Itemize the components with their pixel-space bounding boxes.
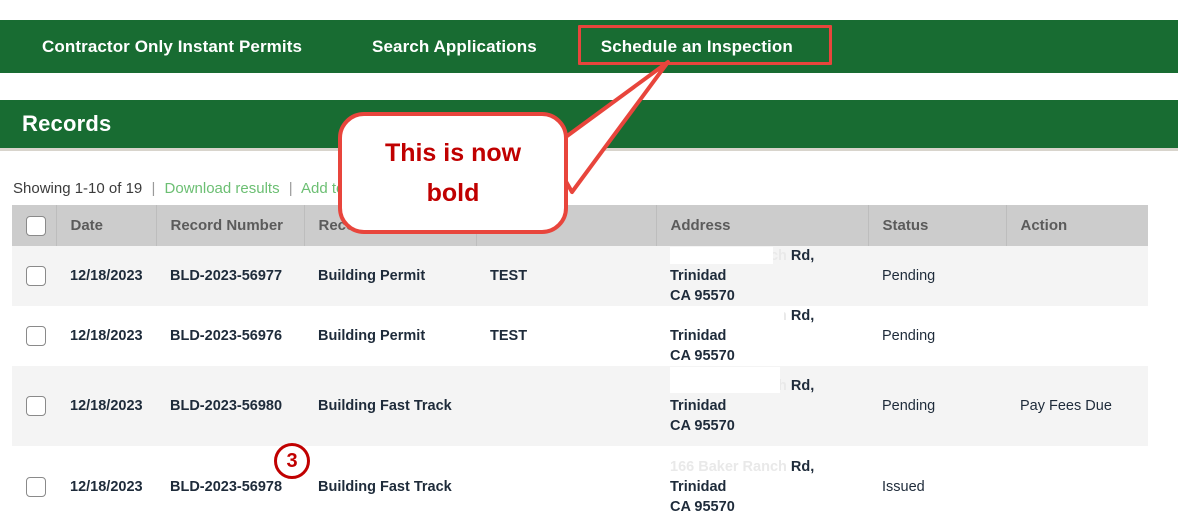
address-line-2: CA 95570 bbox=[670, 499, 735, 515]
row-checkbox[interactable] bbox=[26, 266, 46, 286]
row-select-cell[interactable] bbox=[12, 246, 56, 306]
row-checkbox[interactable] bbox=[26, 477, 46, 497]
cell-status: Pending bbox=[868, 366, 1006, 446]
top-navigation-bar: Contractor Only Instant Permits Search A… bbox=[0, 20, 1178, 73]
row-select-cell[interactable] bbox=[12, 306, 56, 366]
table-header-row: Date Record Number Reco ne Address Statu… bbox=[12, 205, 1148, 246]
address-redaction-block bbox=[670, 367, 780, 393]
column-header-date[interactable]: Date bbox=[56, 205, 156, 246]
records-table: Date Record Number Reco ne Address Statu… bbox=[12, 205, 1148, 526]
address-line-1: 166 Baker Ranch Rd, Trinidad bbox=[670, 306, 868, 346]
cell-record-number[interactable]: BLD-2023-56980 bbox=[156, 366, 304, 446]
row-checkbox[interactable] bbox=[26, 396, 46, 416]
address-redaction-block bbox=[670, 307, 784, 324]
column-header-record-number[interactable]: Record Number bbox=[156, 205, 304, 246]
cell-record-type: Building Fast Track bbox=[304, 366, 476, 446]
cell-date: 12/18/2023 bbox=[56, 306, 156, 366]
column-header-status[interactable]: Status bbox=[868, 205, 1006, 246]
records-section-header: Records bbox=[0, 100, 1178, 148]
address-line-2: CA 95570 bbox=[670, 348, 735, 364]
records-header-underline bbox=[0, 148, 1178, 151]
cell-action[interactable] bbox=[1006, 446, 1148, 526]
nav-item-schedule-an-inspection[interactable]: Schedule an Inspection bbox=[597, 31, 797, 63]
address-line-1: 166 Baker Ranch Rd, Trinidad bbox=[670, 457, 868, 497]
cell-name: TEST bbox=[476, 306, 656, 366]
cell-address: 166 Baker Ranch Rd, Trinidad CA 95570 bbox=[656, 366, 868, 446]
cell-record-type: Building Fast Track bbox=[304, 446, 476, 526]
cell-status: Issued bbox=[868, 446, 1006, 526]
page-title: Records bbox=[22, 111, 111, 137]
annotation-callout-text: This is now bold bbox=[342, 133, 564, 213]
address-line-2: CA 95570 bbox=[670, 418, 735, 434]
column-header-address[interactable]: Address bbox=[656, 205, 868, 246]
results-summary-bar: Showing 1-10 of 19 | Download results | … bbox=[13, 180, 364, 197]
cell-record-number[interactable]: BLD-2023-56977 bbox=[156, 246, 304, 306]
page-root: Contractor Only Instant Permits Search A… bbox=[0, 0, 1178, 526]
nav-item-search-applications[interactable]: Search Applications bbox=[368, 31, 541, 63]
download-results-link[interactable]: Download results bbox=[165, 180, 280, 197]
column-header-action[interactable]: Action bbox=[1006, 205, 1148, 246]
cell-date: 12/18/2023 bbox=[56, 446, 156, 526]
cell-address: 166 Baker Ranch Rd, Trinidad CA 95570 bbox=[656, 246, 868, 306]
annotation-callout-line-2: bold bbox=[342, 173, 564, 213]
cell-record-type: Building Permit bbox=[304, 246, 476, 306]
select-all-checkbox[interactable] bbox=[26, 216, 46, 236]
cell-address: 166 Baker Ranch Rd, Trinidad CA 95570 bbox=[656, 306, 868, 366]
address-redaction-block bbox=[670, 247, 773, 264]
annotation-step-number-circle: 3 bbox=[274, 443, 310, 479]
address-line-1: 166 Baker Ranch Rd, Trinidad bbox=[670, 246, 868, 286]
table-row[interactable]: 12/18/2023 BLD-2023-56976 Building Permi… bbox=[12, 306, 1148, 366]
cell-action[interactable] bbox=[1006, 306, 1148, 366]
cell-record-type: Building Permit bbox=[304, 306, 476, 366]
annotation-callout-bubble: This is now bold bbox=[338, 112, 568, 234]
table-row[interactable]: 12/18/2023 BLD-2023-56977 Building Permi… bbox=[12, 246, 1148, 306]
separator-1: | bbox=[151, 180, 155, 197]
table-row[interactable]: 12/18/2023 BLD-2023-56978 Building Fast … bbox=[12, 446, 1148, 526]
row-select-cell[interactable] bbox=[12, 446, 56, 526]
cell-name: TEST bbox=[476, 246, 656, 306]
column-header-select-all[interactable] bbox=[12, 205, 56, 246]
cell-name bbox=[476, 446, 656, 526]
showing-count-label: Showing 1-10 of 19 bbox=[13, 180, 142, 197]
address-redacted-text: 166 Baker Ranch bbox=[670, 459, 787, 475]
separator-2: | bbox=[289, 180, 293, 197]
cell-address: 166 Baker Ranch Rd, Trinidad CA 95570 bbox=[656, 446, 868, 526]
row-select-cell[interactable] bbox=[12, 366, 56, 446]
cell-status: Pending bbox=[868, 246, 1006, 306]
nav-item-contractor-only-instant-permits[interactable]: Contractor Only Instant Permits bbox=[38, 31, 306, 63]
cell-action[interactable] bbox=[1006, 246, 1148, 306]
table-row[interactable]: 12/18/2023 BLD-2023-56980 Building Fast … bbox=[12, 366, 1148, 446]
cell-name bbox=[476, 366, 656, 446]
address-line-1: 166 Baker Ranch Rd, Trinidad bbox=[670, 376, 868, 416]
row-checkbox[interactable] bbox=[26, 326, 46, 346]
cell-date: 12/18/2023 bbox=[56, 366, 156, 446]
cell-action[interactable]: Pay Fees Due bbox=[1006, 366, 1148, 446]
cell-status: Pending bbox=[868, 306, 1006, 366]
address-line-2: CA 95570 bbox=[670, 288, 735, 304]
annotation-callout-line-1: This is now bbox=[342, 133, 564, 173]
cell-record-number[interactable]: BLD-2023-56976 bbox=[156, 306, 304, 366]
cell-date: 12/18/2023 bbox=[56, 246, 156, 306]
